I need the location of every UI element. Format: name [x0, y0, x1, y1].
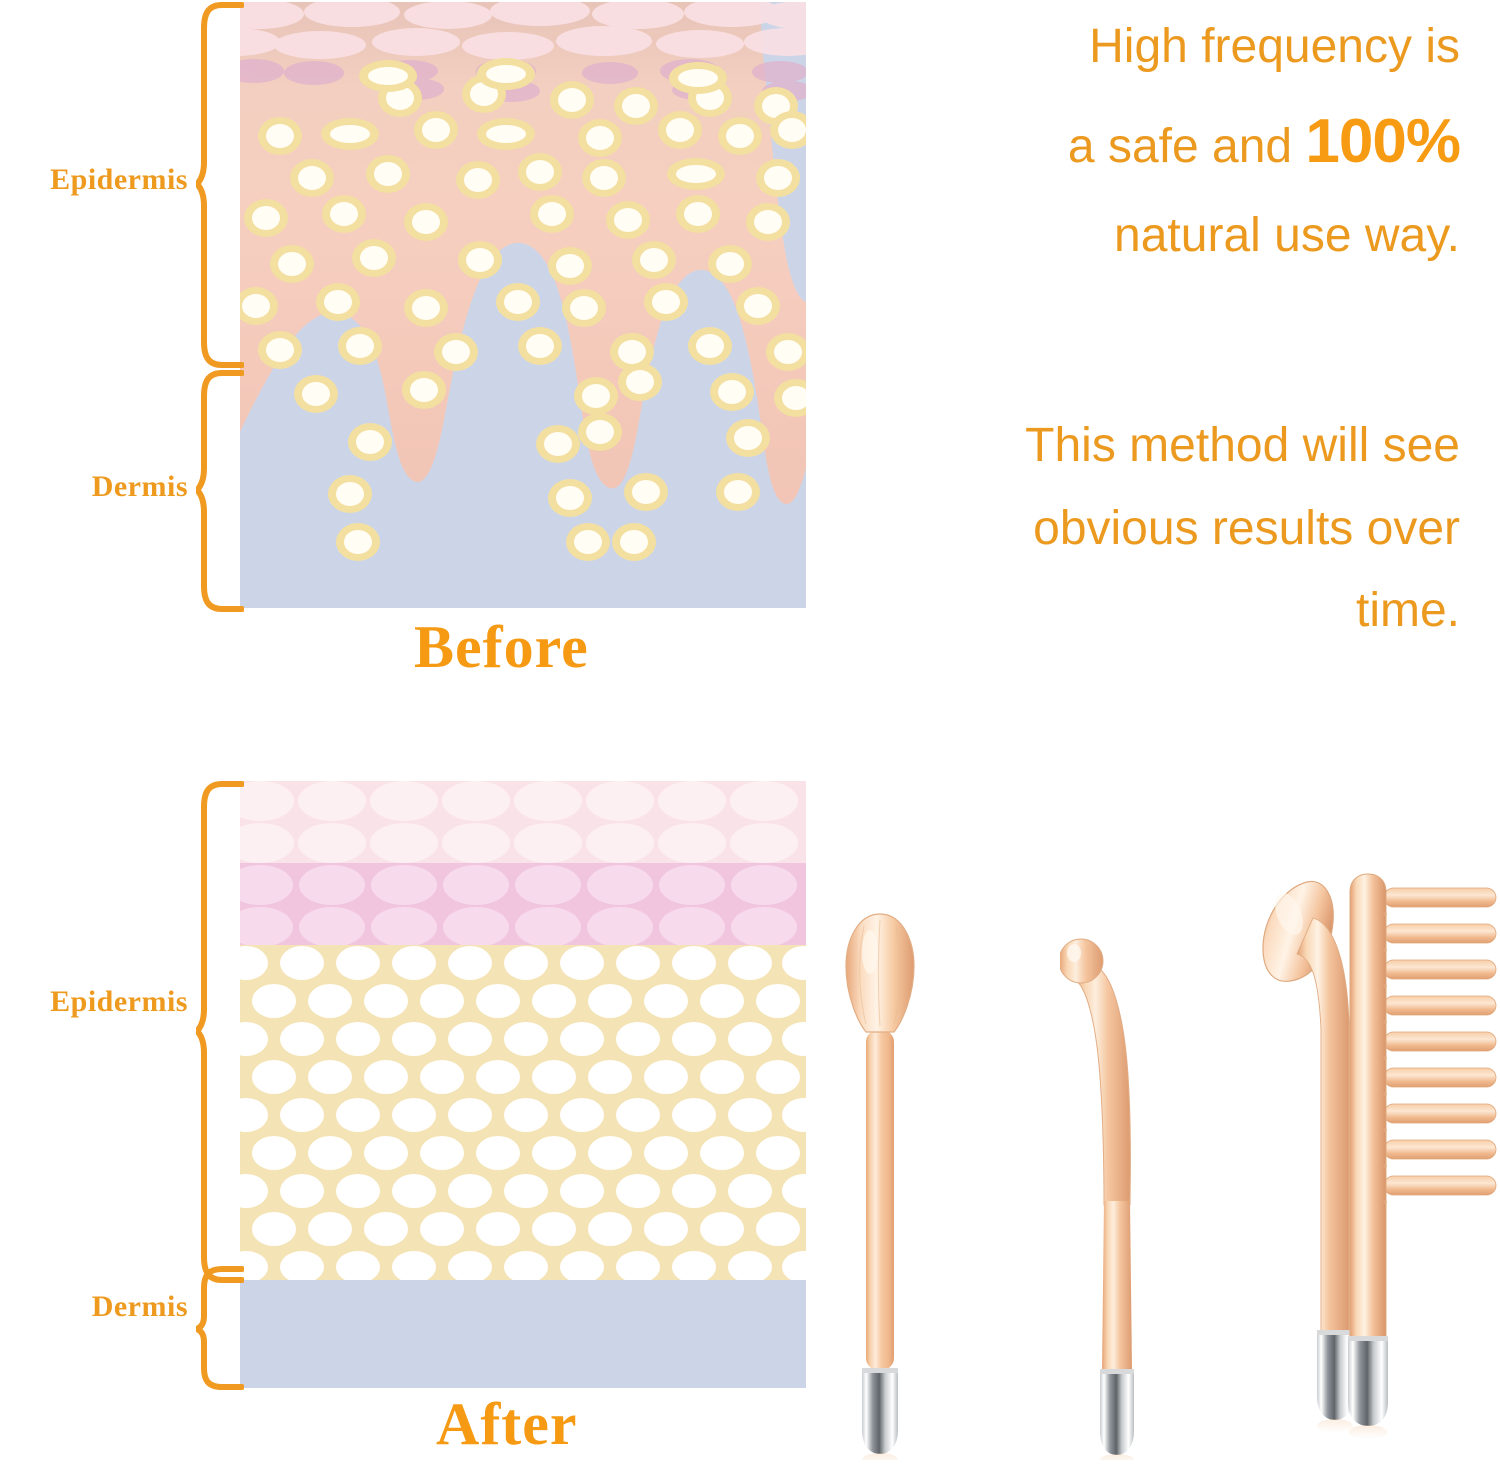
after-epidermis-brace — [196, 781, 244, 1283]
text-segment: High frequency is — [1089, 20, 1460, 73]
safety-claim-line-3: natural use way. — [900, 195, 1460, 278]
text-segment: This method will see — [1025, 419, 1460, 472]
safety-claim-text: High frequency is a safe and 100% natura… — [900, 6, 1460, 278]
before-dermis-brace — [196, 370, 244, 612]
after-dermis-layer — [240, 1280, 806, 1388]
after-dermis-brace — [196, 1266, 244, 1392]
before-skin-diagram — [240, 2, 806, 608]
after-upper-cell-pattern — [240, 781, 806, 945]
before-epidermis-brace — [196, 2, 244, 368]
after-caption: After — [436, 1390, 578, 1459]
text-segment: obvious results over — [1033, 502, 1460, 555]
infographic-canvas: Epidermis Dermis Before — [0, 0, 1500, 1478]
comb-electrode-wand — [1340, 868, 1500, 1468]
mushroom-electrode-wand — [828, 900, 938, 1460]
safety-claim-line-1: High frequency is — [900, 6, 1460, 89]
results-claim-line-2: obvious results over — [900, 488, 1460, 571]
results-claim-line-3: time. — [900, 570, 1460, 653]
before-caption: Before — [414, 613, 589, 682]
results-claim-text: This method will see obvious results ove… — [900, 405, 1460, 653]
before-label-dermis: Dermis — [0, 470, 188, 504]
results-claim-line-1: This method will see — [900, 405, 1460, 488]
after-epidermis-cell-grid — [240, 945, 806, 1280]
after-label-epidermis: Epidermis — [0, 985, 188, 1019]
after-skin-diagram — [240, 781, 806, 1388]
before-label-epidermis: Epidermis — [0, 163, 188, 197]
percent-highlight: 100% — [1305, 107, 1460, 176]
safety-claim-line-2: a safe and 100% — [900, 89, 1460, 196]
text-segment: time. — [1356, 584, 1460, 637]
text-segment: natural use way. — [1114, 209, 1460, 262]
text-segment: a safe and — [1068, 120, 1306, 173]
before-scattered-cells — [240, 2, 806, 608]
bent-rod-electrode-wand — [1060, 905, 1170, 1460]
after-label-dermis: Dermis — [0, 1290, 188, 1324]
